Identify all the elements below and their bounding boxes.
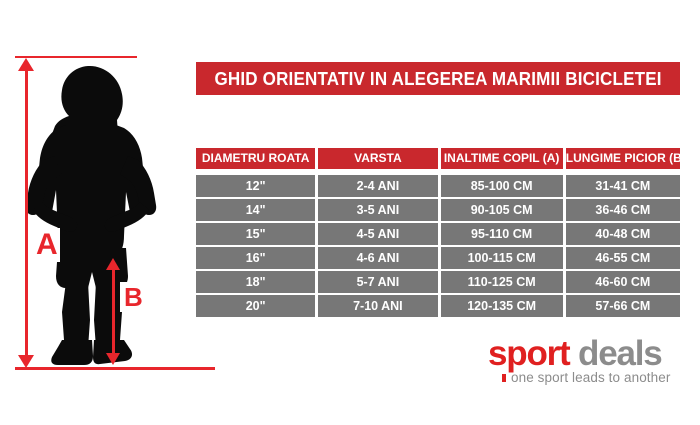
cell-wheel-diameter: 12" (196, 175, 315, 197)
cell-wheel-diameter: 16" (196, 247, 315, 269)
logo-tagline-row: one sport leads to another (488, 370, 680, 385)
cell-child-height: 100-115 CM (441, 247, 563, 269)
cell-wheel-diameter: 20" (196, 295, 315, 317)
cell-age: 4-6 ANI (318, 247, 437, 269)
table-row: 18" 5-7 ANI 110-125 CM 46-60 CM (196, 271, 680, 293)
dimension-b-line (112, 265, 115, 359)
cell-wheel-diameter: 14" (196, 199, 315, 221)
cell-child-height: 120-135 CM (441, 295, 563, 317)
bike-size-guide-page: A B GHID ORIENTATIV IN ALEGEREA MARIMII … (0, 0, 700, 425)
dimension-b-arrow-down-icon (106, 353, 120, 365)
table-row: 15" 4-5 ANI 95-110 CM 40-48 CM (196, 223, 680, 245)
cell-leg-length: 40-48 CM (566, 223, 680, 245)
table-row: 14" 3-5 ANI 90-105 CM 36-46 CM (196, 199, 680, 221)
cell-leg-length: 57-66 CM (566, 295, 680, 317)
cell-age: 5-7 ANI (318, 271, 437, 293)
logo-word-deals: deals (578, 334, 662, 373)
table-header-varsta: VARSTA (318, 148, 437, 169)
logo-tagline: one sport leads to another (511, 370, 670, 385)
table-header-inaltime-copil: INALTIME COPIL (A) (441, 148, 563, 169)
table-row: 16" 4-6 ANI 100-115 CM 46-55 CM (196, 247, 680, 269)
dimension-b-label: B (120, 282, 146, 312)
illustration-panel: A B (0, 0, 196, 393)
table-header-row: DIAMETRU ROATA VARSTA INALTIME COPIL (A)… (196, 148, 680, 169)
logo-word-sport: sport (488, 334, 570, 373)
dimension-a-label: A (33, 228, 60, 262)
table-header-lungime-picior: LUNGIME PICIOR (B) (566, 148, 680, 169)
page-title: GHID ORIENTATIV IN ALEGEREA MARIMII BICI… (214, 68, 661, 90)
cell-leg-length: 31-41 CM (566, 175, 680, 197)
cell-child-height: 90-105 CM (441, 199, 563, 221)
cell-leg-length: 46-55 CM (566, 247, 680, 269)
bike-size-table: DIAMETRU ROATA VARSTA INALTIME COPIL (A)… (196, 148, 680, 319)
cell-child-height: 95-110 CM (441, 223, 563, 245)
cell-age: 4-5 ANI (318, 223, 437, 245)
cell-child-height: 85-100 CM (441, 175, 563, 197)
cell-leg-length: 46-60 CM (566, 271, 680, 293)
cell-wheel-diameter: 18" (196, 271, 315, 293)
table-row: 20" 7-10 ANI 120-135 CM 57-66 CM (196, 295, 680, 317)
dimension-a-cap-bottom (15, 367, 215, 370)
cell-child-height: 110-125 CM (441, 271, 563, 293)
logo-bullet-icon (502, 374, 506, 382)
cell-age: 7-10 ANI (318, 295, 437, 317)
table-header-diametru-roata: DIAMETRU ROATA (196, 148, 315, 169)
cell-leg-length: 36-46 CM (566, 199, 680, 221)
dimension-a-line (25, 64, 28, 364)
logo-wordmark: sport deals (488, 336, 680, 372)
cell-wheel-diameter: 15" (196, 223, 315, 245)
cell-age: 3-5 ANI (318, 199, 437, 221)
cell-age: 2-4 ANI (318, 175, 437, 197)
table-row: 12" 2-4 ANI 85-100 CM 31-41 CM (196, 175, 680, 197)
brand-logo[interactable]: sport deals one sport leads to another (488, 336, 680, 388)
title-banner: GHID ORIENTATIV IN ALEGEREA MARIMII BICI… (196, 62, 680, 95)
